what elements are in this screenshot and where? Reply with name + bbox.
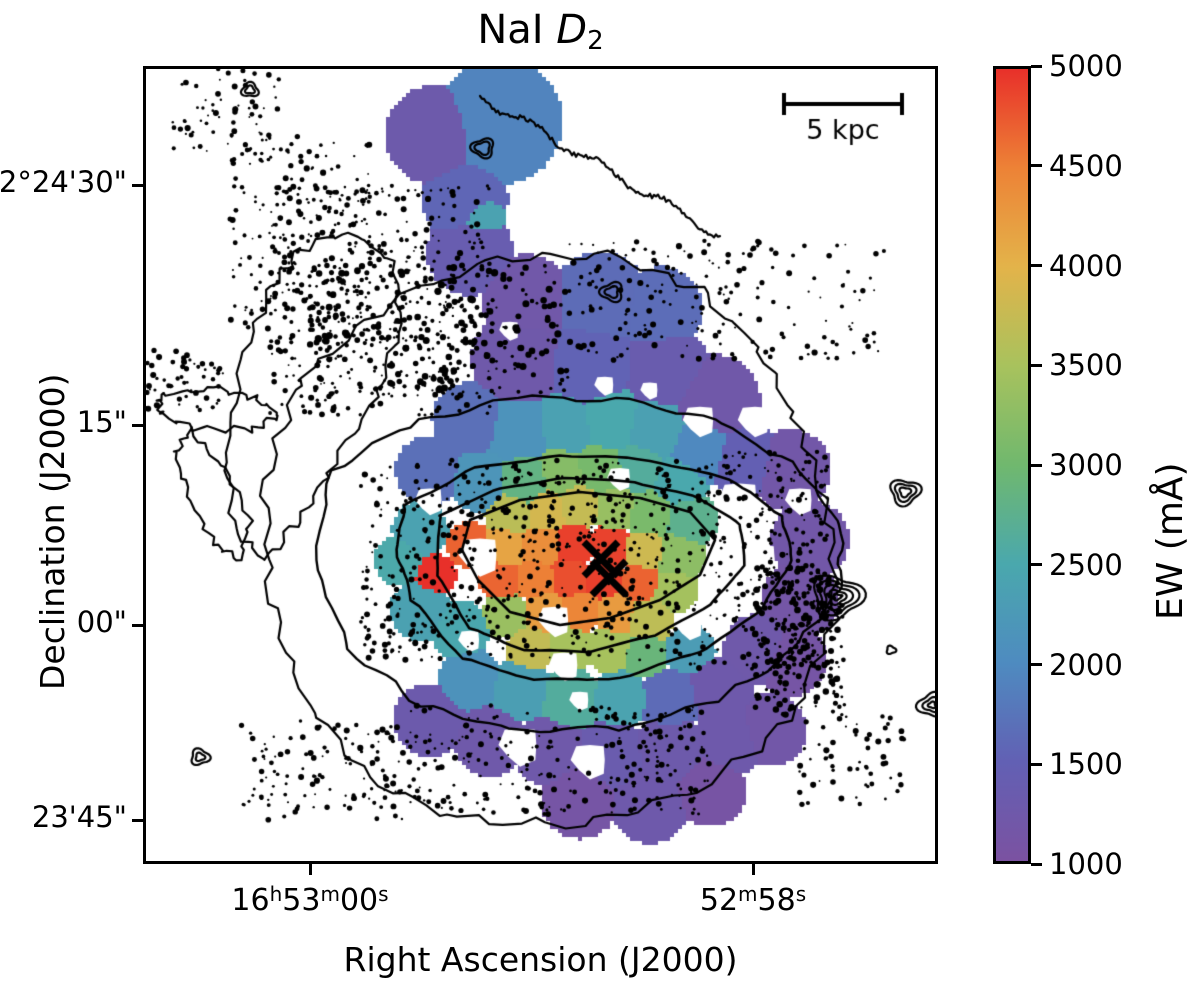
colorbar-tick [1031,264,1042,267]
colorbar-tick [1031,164,1042,167]
title-italic: D [556,7,587,53]
title-subscript: 2 [587,26,604,56]
y-axis-tick-label: 00" [77,605,127,639]
colorbar-tick-label: 2500 [1049,548,1123,582]
colorbar-tick [1031,65,1042,68]
colorbar-tick [1031,364,1042,367]
x-axis-tick-label: 52m58s [633,882,873,918]
map-canvas-holder [146,69,935,861]
figure-root: NaI D2 2°24'30"15"00"23'45" 16h53m00s52m… [0,0,1200,1006]
colorbar-tick-label: 3000 [1049,448,1123,482]
figure-title: NaI D2 [143,4,938,67]
colorbar [993,66,1031,864]
y-axis-title: Declination (J2000) [33,374,72,691]
y-axis-tick-label: 15" [77,405,127,439]
x-axis-tick-label: 16h53m00s [190,882,430,918]
colorbar-tick-label: 4500 [1049,149,1123,183]
colorbar-tick [1031,863,1042,866]
x-axis-title: Right Ascension (J2000) [143,940,938,979]
y-axis-tick-label: 23'45" [32,800,127,834]
colorbar-tick [1031,663,1042,666]
x-axis-tick [309,864,312,875]
colorbar-tick [1031,563,1042,566]
colorbar-tick-label: 5000 [1049,49,1123,83]
colorbar-tick-label: 1000 [1049,847,1123,881]
colorbar-tick [1031,464,1042,467]
y-axis-tick [132,624,143,627]
ew-map-canvas [146,69,935,861]
colorbar-title: EW (mÅ) [1150,462,1191,620]
colorbar-tick-label: 1500 [1049,747,1123,781]
title-prefix: NaI [477,7,556,53]
map-axes [143,66,938,864]
y-axis-tick [132,819,143,822]
colorbar-tick [1031,763,1042,766]
y-axis-tick [132,184,143,187]
colorbar-gradient [996,69,1028,861]
y-axis-tick [132,424,143,427]
colorbar-tick-label: 2000 [1049,648,1123,682]
y-axis-tick-label: 2°24'30" [0,165,127,199]
colorbar-tick-label: 3500 [1049,348,1123,382]
colorbar-tick-label: 4000 [1049,249,1123,283]
x-axis-tick [752,864,755,875]
